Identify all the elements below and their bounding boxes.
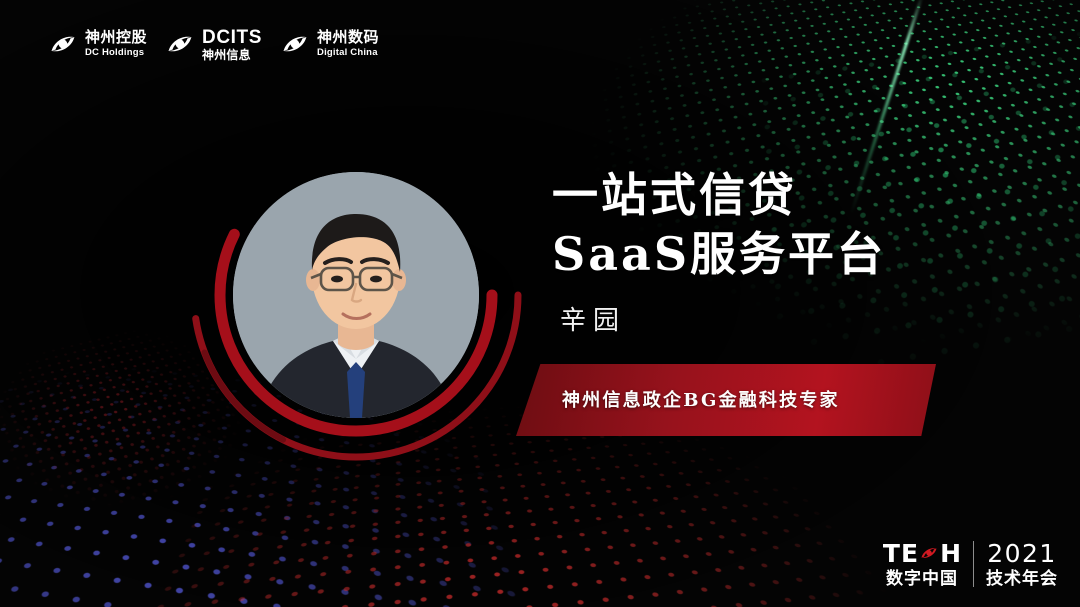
event-year: 2021 bbox=[987, 542, 1057, 565]
logo-digital-china-cn: 神州数码 bbox=[317, 30, 379, 45]
logo-dcits-brand: DCITS bbox=[202, 28, 262, 47]
vignette-overlay bbox=[0, 0, 1080, 607]
tech-wordmark: T E H bbox=[883, 542, 961, 565]
partner-logo-bar: 神州控股 DC Holdings DCITS 神州信息 神州数码 bbox=[48, 26, 379, 62]
event-year-cn: 技术年会 bbox=[986, 570, 1058, 587]
logo-digital-china-text: 神州数码 Digital China bbox=[317, 30, 379, 58]
avatar-illustration bbox=[233, 172, 479, 418]
event-logo-lockup: T E H 数字中国 2021 技术年会 bbox=[883, 541, 1058, 587]
speaker-portrait-frame bbox=[178, 122, 528, 474]
swirl-icon bbox=[919, 543, 939, 563]
swirl-icon bbox=[165, 32, 195, 56]
logo-digital-china: 神州数码 Digital China bbox=[280, 26, 379, 62]
logo-dc-holdings-cn: 神州控股 bbox=[85, 30, 147, 45]
logo-dc-holdings: 神州控股 DC Holdings bbox=[48, 26, 147, 62]
logo-dcits: DCITS 神州信息 bbox=[165, 26, 262, 62]
event-divider bbox=[973, 541, 974, 587]
logo-dc-holdings-en: DC Holdings bbox=[85, 48, 147, 58]
logo-dcits-cn: 神州信息 bbox=[202, 49, 262, 61]
green-dot-field bbox=[548, 0, 1080, 591]
speaker-name: 辛园 bbox=[560, 300, 626, 337]
event-year-row: 2021 bbox=[987, 542, 1057, 565]
logo-dc-holdings-text: 神州控股 DC Holdings bbox=[85, 30, 147, 58]
event-tech-cn: 数字中国 bbox=[886, 570, 958, 587]
tech-letter-t: T bbox=[883, 542, 900, 565]
headline-line-1: 一站式信贷 bbox=[552, 166, 886, 225]
slide-headline: 一站式信贷 SaaS服务平台 bbox=[552, 166, 886, 284]
background-particles bbox=[0, 0, 1080, 607]
event-tech-block: T E H 数字中国 bbox=[883, 542, 961, 587]
tech-letter-e: E bbox=[901, 542, 918, 565]
presentation-slide: 神州控股 DC Holdings DCITS 神州信息 神州数码 bbox=[0, 0, 1080, 607]
swirl-icon bbox=[280, 32, 310, 56]
tech-letter-h: H bbox=[940, 542, 961, 565]
speaker-avatar bbox=[233, 172, 479, 418]
headline-line-2: SaaS服务平台 bbox=[552, 225, 886, 284]
speaker-role-text: 神州信息政企BG金融科技专家 bbox=[562, 386, 840, 412]
swirl-icon bbox=[48, 32, 78, 56]
logo-dcits-text: DCITS 神州信息 bbox=[202, 28, 262, 61]
logo-digital-china-en: Digital China bbox=[317, 48, 379, 58]
event-year-block: 2021 技术年会 bbox=[986, 542, 1058, 587]
